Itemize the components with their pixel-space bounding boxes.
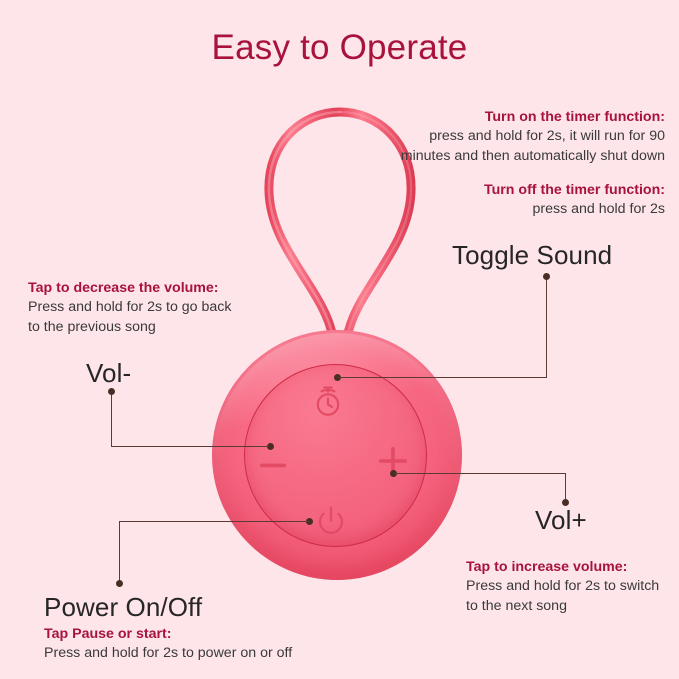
callout-vol-up-line2: to the next song [466,597,679,616]
connector-dot-toggle-end [543,273,550,280]
callout-timer-on-lead: Turn on the timer function: [345,108,665,127]
infographic-canvas: Easy to Operate [0,0,679,679]
callout-heading-toggle-sound: Toggle Sound [452,240,612,271]
connector-dot-voldown-end [108,388,115,395]
connector-line-volup-h [394,473,566,474]
connector-line-voldown-v [111,392,112,447]
callout-power-body: Tap Pause or start: Press and hold for 2… [44,625,344,664]
stopwatch-timer-icon[interactable] [310,383,346,419]
callout-timer-on-line2: minutes and then automatically shut down [345,147,665,166]
callout-power-lead: Tap Pause or start: [44,625,344,644]
connector-line-voldown-h [111,446,269,447]
callout-vol-up-lead: Tap to increase volume: [466,558,679,577]
connector-line-toggle-h [338,377,547,378]
callout-heading-vol-down: Vol- [86,358,131,389]
power-icon[interactable] [313,503,349,539]
connector-line-toggle-v [546,279,547,378]
connector-line-volup-v [565,473,566,502]
callout-timer-off: Turn off the timer function: press and h… [345,181,665,220]
connector-line-power-h [119,521,309,522]
callout-timer-off-lead: Turn off the timer function: [345,181,665,200]
callout-vol-down-line1: Press and hold for 2s to go back [28,298,288,317]
callout-vol-up-body: Tap to increase volume: Press and hold f… [466,558,679,616]
callout-vol-down-body: Tap to decrease the volume: Press and ho… [28,279,288,337]
callout-timer-on-line1: press and hold for 2s, it will run for 9… [345,127,665,146]
page-title: Easy to Operate [0,28,679,68]
callout-heading-power: Power On/Off [44,592,202,623]
callout-power-line1: Press and hold for 2s to power on or off [44,644,344,663]
callout-timer-off-line1: press and hold for 2s [345,200,665,219]
speaker-device [212,330,462,580]
callout-heading-vol-up: Vol+ [535,505,587,536]
callout-vol-down-line2: to the previous song [28,318,288,337]
callout-timer-on: Turn on the timer function: press and ho… [345,108,665,166]
minus-icon[interactable] [256,455,290,477]
callout-vol-up-line1: Press and hold for 2s to switch [466,577,679,596]
connector-line-power-v [119,521,120,583]
connector-dot-power-end [116,580,123,587]
callout-vol-down-lead: Tap to decrease the volume: [28,279,288,298]
